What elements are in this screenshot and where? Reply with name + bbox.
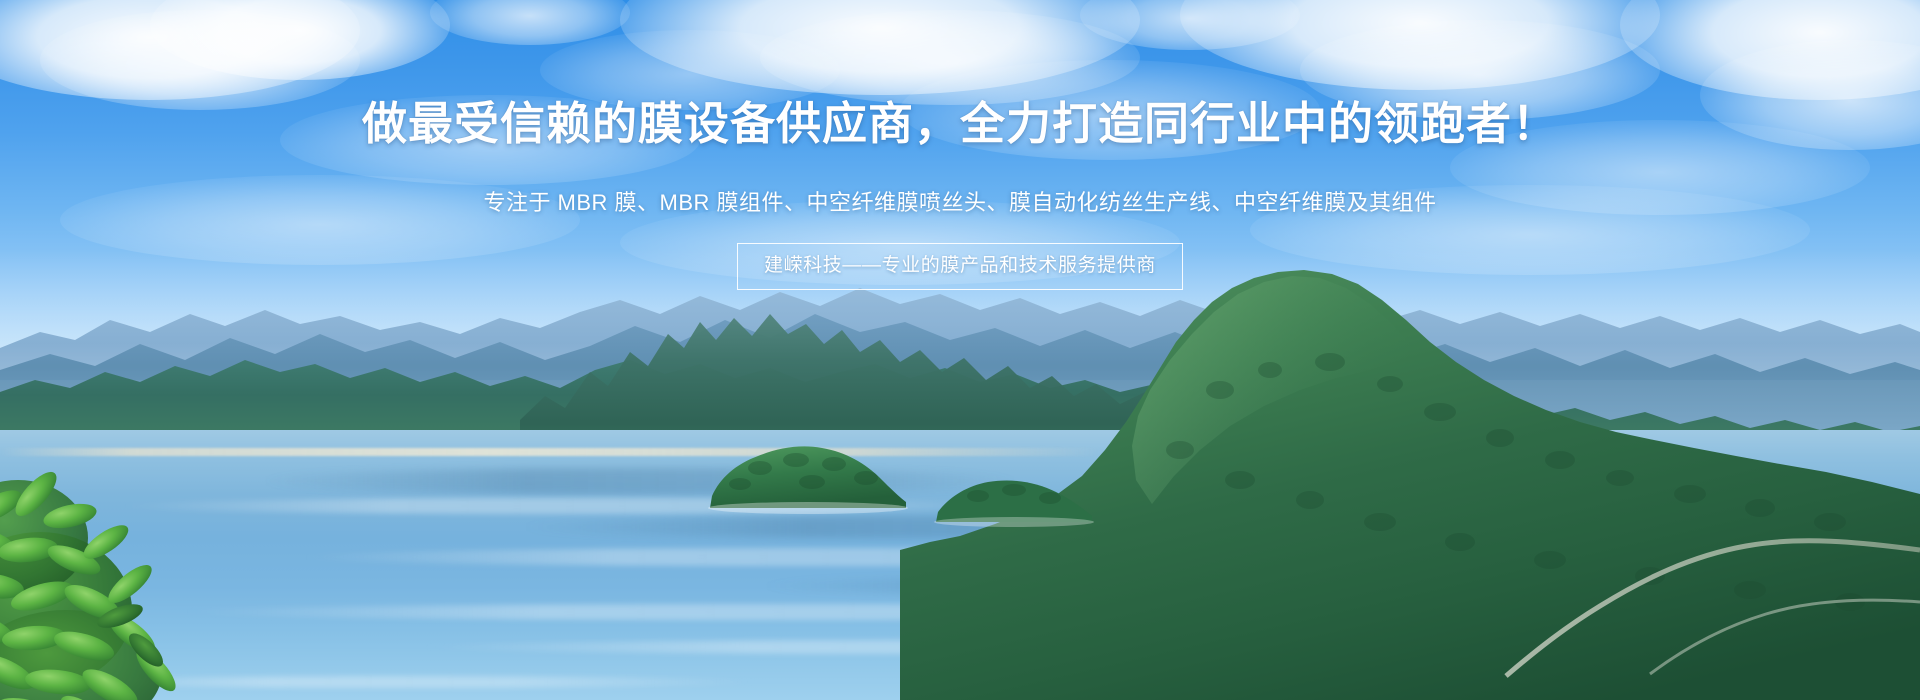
hero-banner: 做最受信赖的膜设备供应商，全力打造同行业中的领跑者！ 专注于 MBR 膜、MBR… bbox=[0, 0, 1920, 700]
lake-island-small bbox=[930, 460, 1100, 530]
lake-island bbox=[700, 424, 940, 514]
page-subtitle: 专注于 MBR 膜、MBR 膜组件、中空纤维膜喷丝头、膜自动化纺丝生产线、中空纤… bbox=[0, 186, 1920, 220]
foreground-foliage bbox=[0, 420, 270, 700]
page-title: 做最受信赖的膜设备供应商，全力打造同行业中的领跑者！ bbox=[0, 96, 1920, 152]
tagline-badge: 建嵘科技——专业的膜产品和技术服务提供商 bbox=[737, 243, 1183, 290]
tagline-container: 建嵘科技——专业的膜产品和技术服务提供商 bbox=[0, 243, 1920, 290]
